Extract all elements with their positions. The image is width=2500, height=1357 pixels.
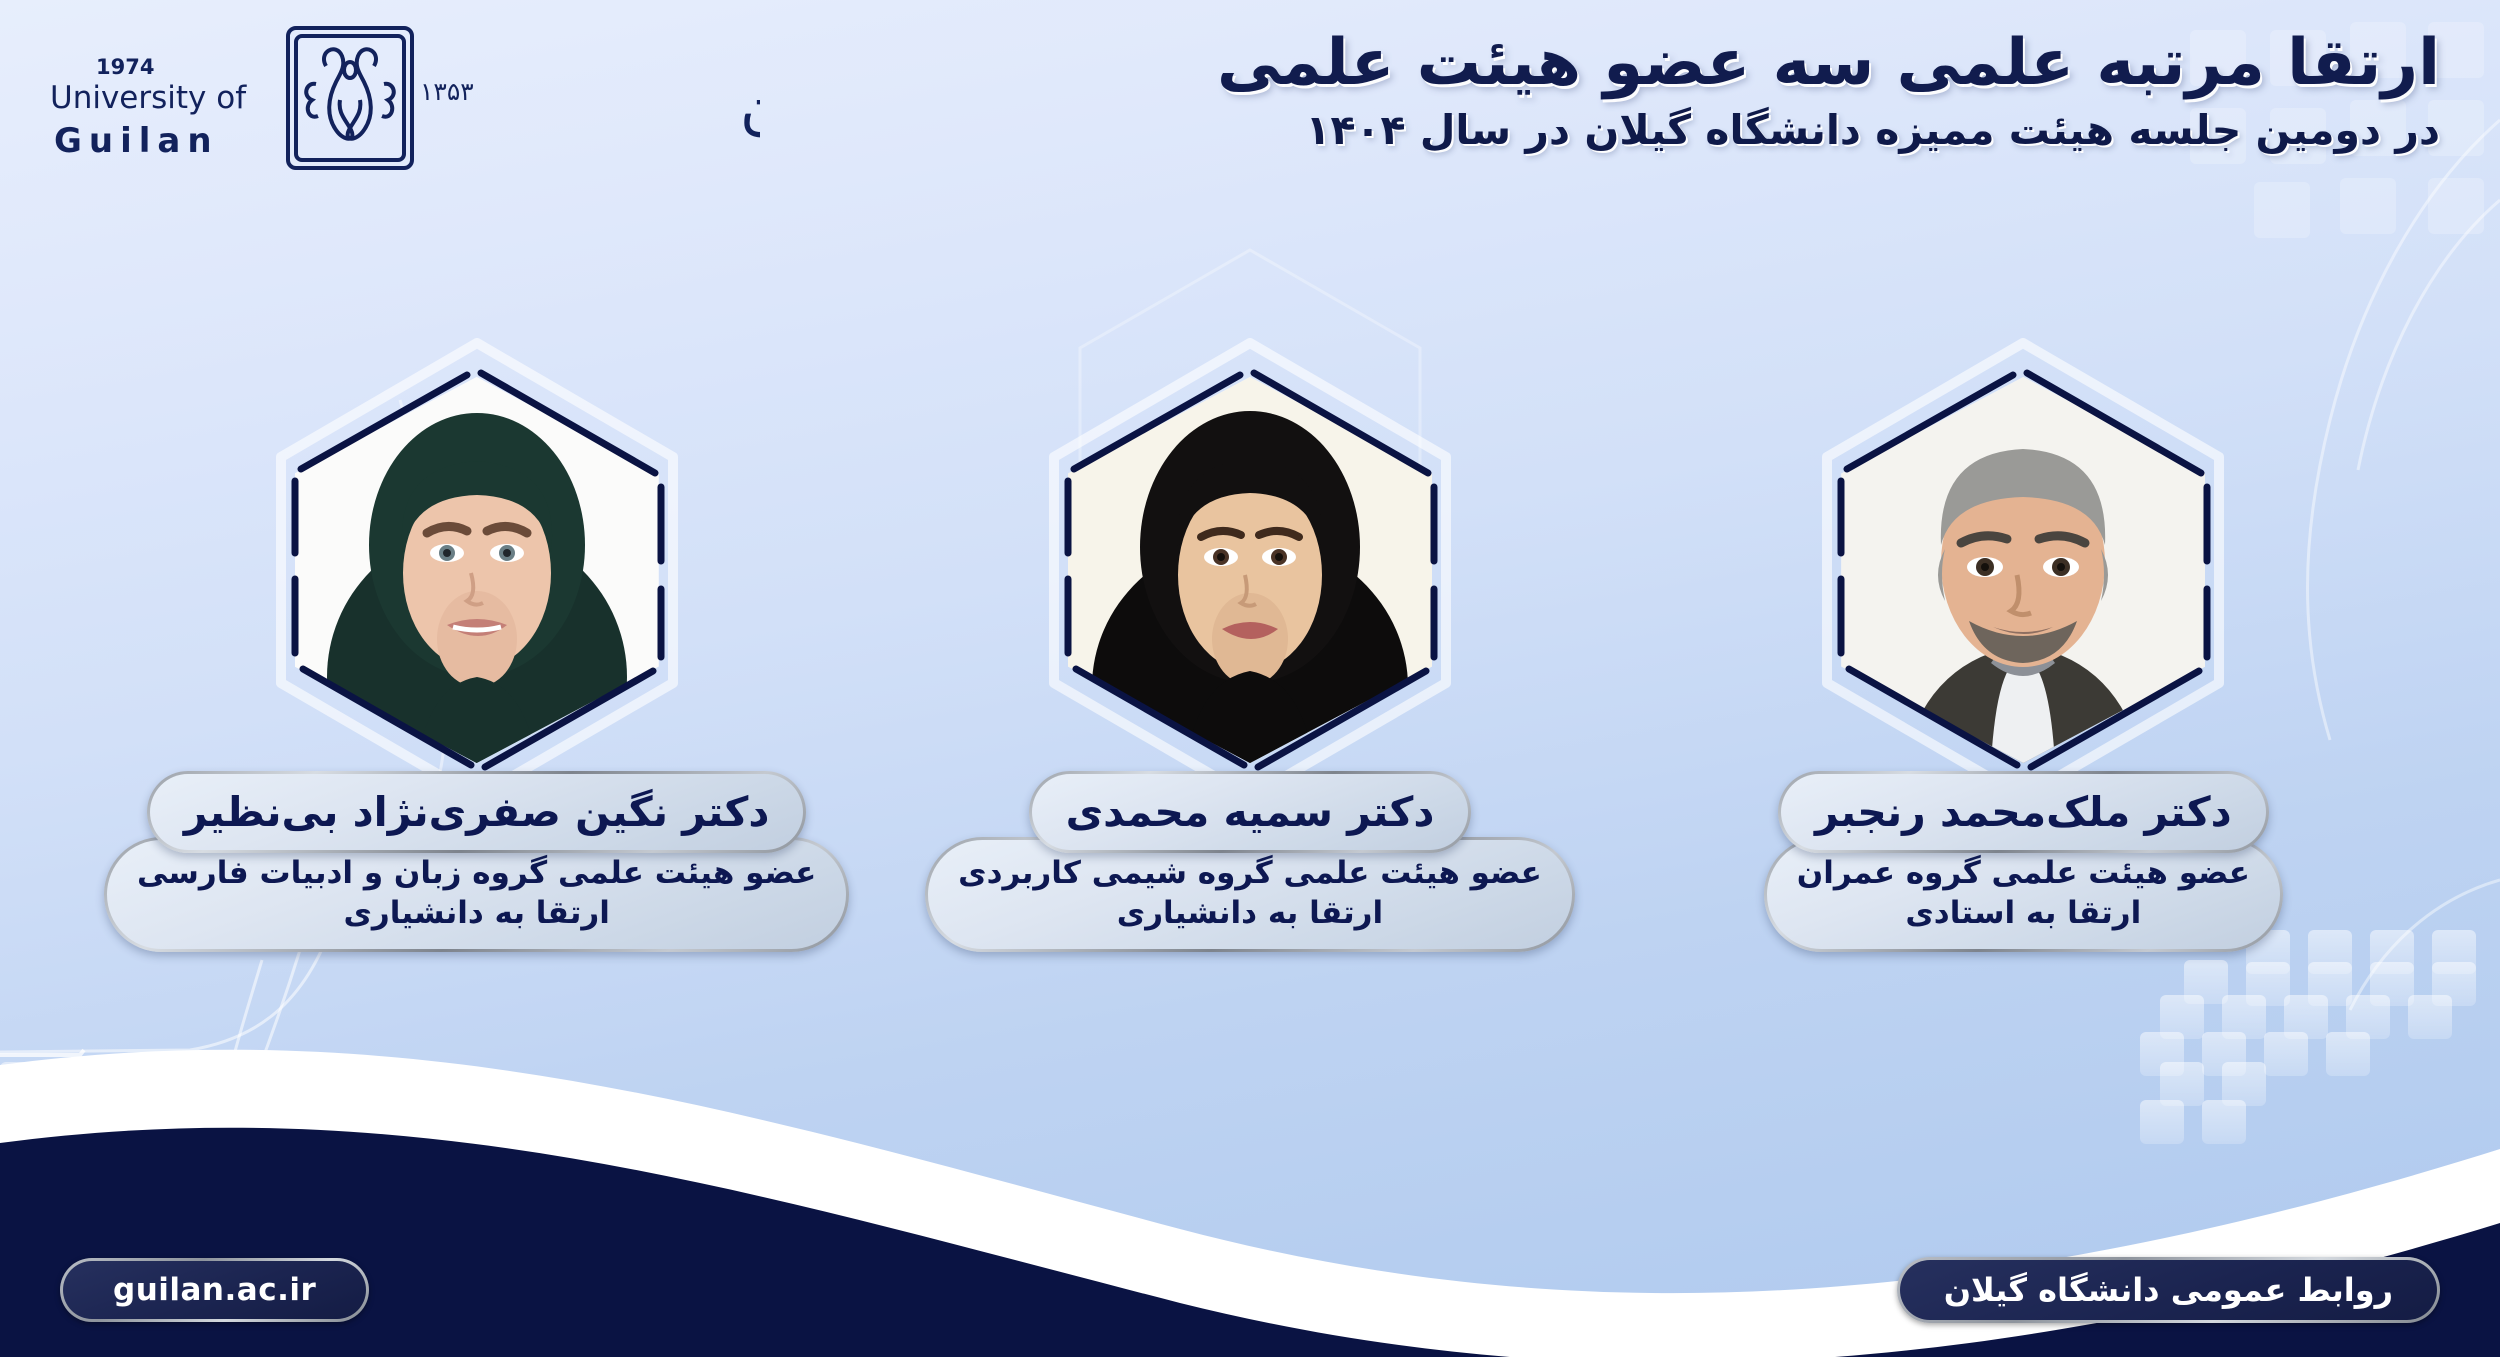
guilan-logo-mark: 1974 University of Guilan ۱۳۵۳ دانشگاه گ… bbox=[40, 8, 760, 188]
person-name: دکتر ملک‌محمد رنجبر bbox=[1781, 774, 2266, 850]
title-block: ارتقا مرتبه علمی سه عضو هیئت علمی در دوم… bbox=[720, 28, 2440, 155]
website-pill[interactable]: guilan.ac.ir bbox=[60, 1258, 369, 1322]
person-role-line1: عضو هیئت علمی گروه عمران bbox=[1797, 854, 2250, 894]
person-card: دکتر سمیه محمدی عضو هیئت علمی گروه شیمی … bbox=[900, 355, 1600, 952]
person-role-badge: عضو هیئت علمی گروه عمران ارتقا به استادی bbox=[1764, 837, 2283, 952]
page-title: ارتقا مرتبه علمی سه عضو هیئت علمی bbox=[720, 28, 2440, 100]
person-role-line1: عضو هیئت علمی گروه زبان و ادبیات فارسی bbox=[137, 854, 816, 894]
person-role-line2: ارتقا به استادی bbox=[1905, 894, 2141, 934]
person-card: دکتر نگین صفری‌نژاد بی‌نظیر عضو هیئت علم… bbox=[127, 355, 827, 952]
logo-year-fa: ۱۳۵۳ bbox=[420, 77, 474, 106]
logo-year-en: 1974 bbox=[96, 55, 154, 79]
person-name-badge: دکتر نگین صفری‌نژاد بی‌نظیر bbox=[147, 771, 806, 853]
page-subtitle: در دومین جلسه هیئت ممیزه دانشگاه گیلان د… bbox=[720, 106, 2440, 155]
person-role-line1: عضو هیئت علمی گروه شیمی کاربردی bbox=[958, 854, 1542, 894]
portrait-frame bbox=[277, 355, 677, 785]
person-name: دکتر نگین صفری‌نژاد بی‌نظیر bbox=[150, 774, 803, 850]
person-card: دکتر ملک‌محمد رنجبر عضو هیئت علمی گروه ع… bbox=[1673, 355, 2373, 952]
poster-canvas: 1974 University of Guilan ۱۳۵۳ دانشگاه گ… bbox=[0, 0, 2500, 1357]
logo-en-line1: University of bbox=[50, 80, 247, 116]
person-role-line2: ارتقا به دانشیاری bbox=[1117, 894, 1383, 934]
person-role-badge: عضو هیئت علمی گروه شیمی کاربردی ارتقا به… bbox=[925, 837, 1575, 952]
public-relations-pill[interactable]: روابط عمومی دانشگاه گیلان bbox=[1897, 1257, 2440, 1323]
person-role: عضو هیئت علمی گروه عمران ارتقا به استادی bbox=[1767, 840, 2280, 949]
person-role: عضو هیئت علمی گروه شیمی کاربردی ارتقا به… bbox=[928, 840, 1572, 949]
person-name: دکتر سمیه محمدی bbox=[1032, 774, 1469, 850]
person-role: عضو هیئت علمی گروه زبان و ادبیات فارسی ا… bbox=[107, 840, 846, 949]
person-role-badge: عضو هیئت علمی گروه زبان و ادبیات فارسی ا… bbox=[104, 837, 849, 952]
person-role-line2: ارتقا به دانشیاری bbox=[343, 894, 609, 934]
people-row: دکتر نگین صفری‌نژاد بی‌نظیر عضو هیئت علم… bbox=[0, 355, 2500, 952]
university-logo: 1974 University of Guilan ۱۳۵۳ دانشگاه گ… bbox=[40, 8, 760, 188]
logo-emblem bbox=[288, 28, 412, 168]
footer: guilan.ac.ir روابط عمومی دانشگاه گیلان bbox=[0, 1251, 2500, 1329]
website-url[interactable]: guilan.ac.ir bbox=[63, 1261, 366, 1319]
logo-en-line2: Guilan bbox=[54, 121, 219, 161]
public-relations-label[interactable]: روابط عمومی دانشگاه گیلان bbox=[1900, 1260, 2437, 1320]
portrait-frame bbox=[1050, 355, 1450, 785]
portrait-frame bbox=[1823, 355, 2223, 785]
person-name-badge: دکتر سمیه محمدی bbox=[1029, 771, 1472, 853]
person-name-badge: دکتر ملک‌محمد رنجبر bbox=[1778, 771, 2269, 853]
